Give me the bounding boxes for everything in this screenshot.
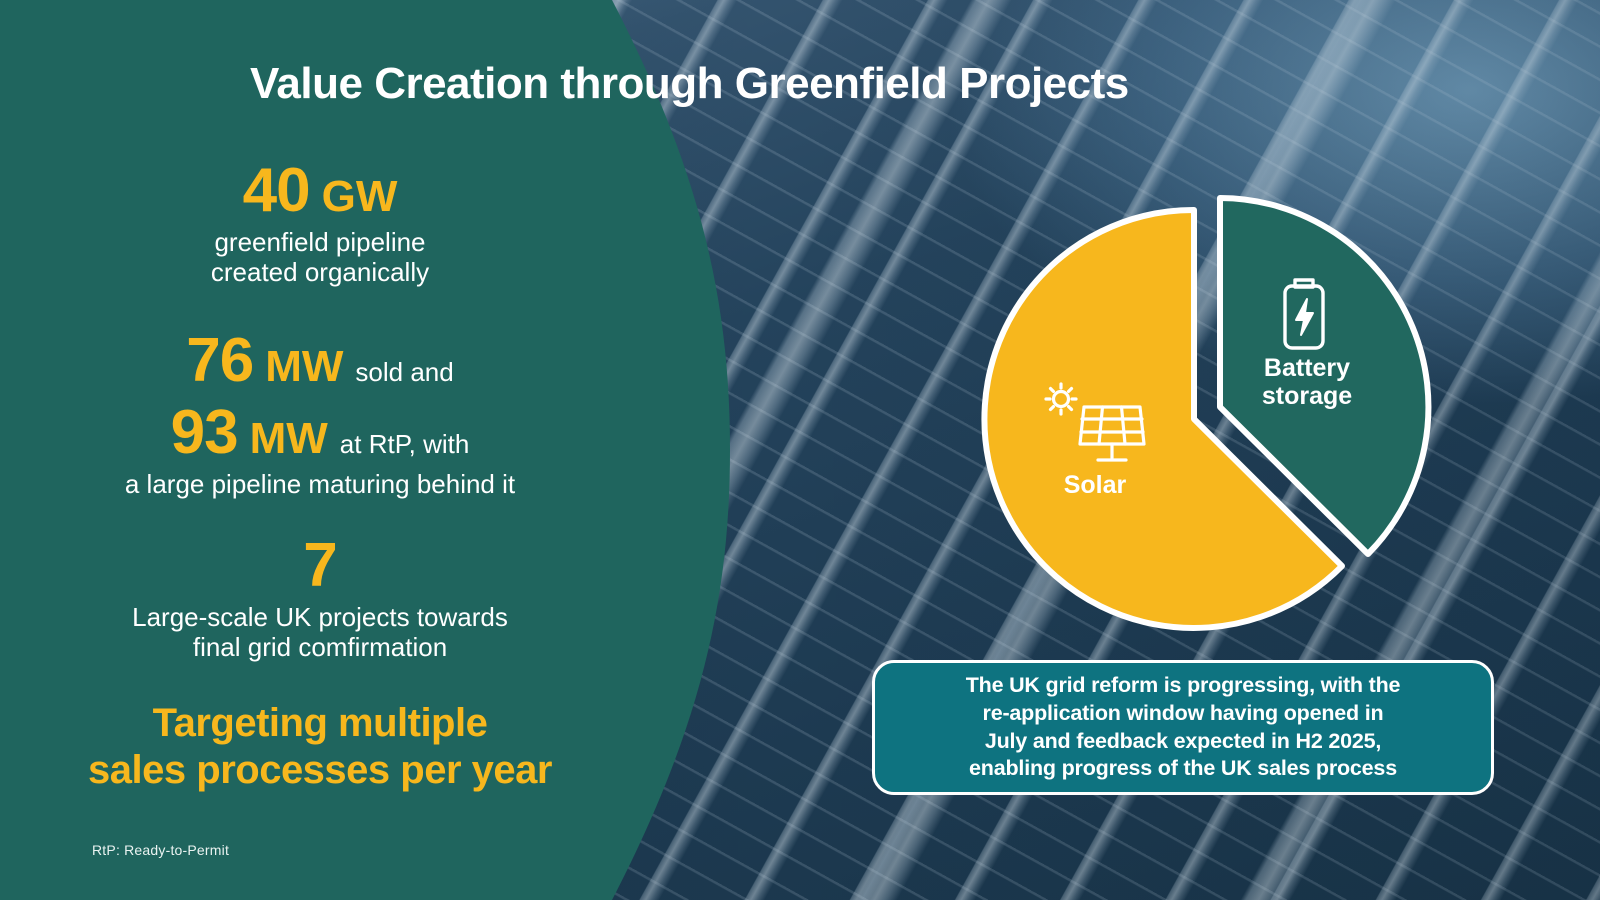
left-content: 40 GW greenfield pipeline created organi… bbox=[0, 0, 640, 900]
stat-unit-sold: MW bbox=[265, 345, 343, 389]
callout-box: The UK grid reform is progressing, with … bbox=[872, 660, 1494, 795]
stat-value-projects: 7 bbox=[303, 531, 336, 600]
headline-line1: Targeting multiple bbox=[0, 700, 640, 747]
stat-subtitle-line2: created organically bbox=[0, 258, 640, 288]
stat-inline-sold: sold and bbox=[355, 359, 453, 385]
stat-value-sold: 76 bbox=[186, 330, 253, 392]
stat-subtitle-projects-line1: Large-scale UK projects towards bbox=[0, 603, 640, 633]
stat-subtitle-projects-line2: final grid comfirmation bbox=[0, 633, 640, 663]
stat-value-row-projects: 7 bbox=[0, 535, 640, 597]
slide-root: Value Creation through Greenfield Projec… bbox=[0, 0, 1600, 900]
headline-block: Targeting multiple sales processes per y… bbox=[0, 700, 640, 794]
stat-inline-rtp: at RtP, with bbox=[340, 431, 470, 457]
callout-line2: re-application window having opened in bbox=[983, 701, 1384, 725]
headline-line2: sales processes per year bbox=[0, 747, 640, 794]
footnote: RtP: Ready-to-Permit bbox=[92, 842, 229, 858]
stat-value-row-rtp: 93 MW at RtP, with bbox=[0, 402, 640, 464]
stat-subtitle-line1: greenfield pipeline bbox=[0, 228, 640, 258]
stat-value-row: 40 GW bbox=[0, 160, 640, 222]
stat-value-row-sold: 76 MW sold and bbox=[0, 330, 640, 392]
stat-unit-rtp: MW bbox=[250, 417, 328, 461]
callout-line1: The UK grid reform is progressing, with … bbox=[966, 673, 1401, 697]
callout-line3: July and feedback expected in H2 2025, bbox=[985, 729, 1381, 753]
stat-block-pipeline: 40 GW greenfield pipeline created organi… bbox=[0, 160, 640, 288]
callout-text: The UK grid reform is progressing, with … bbox=[966, 672, 1401, 782]
callout-line4: enabling progress of the UK sales proces… bbox=[969, 756, 1397, 780]
stat-value-rtp: 93 bbox=[171, 402, 238, 464]
stat-block-uk-projects: 7 Large-scale UK projects towards final … bbox=[0, 535, 640, 663]
solar-panel-icon bbox=[1040, 382, 1146, 468]
stat-value: 40 bbox=[243, 160, 310, 222]
stat-block-sold-rtp: 76 MW sold and 93 MW at RtP, with a larg… bbox=[0, 330, 640, 500]
pie-chart bbox=[930, 160, 1470, 650]
pie-label-solar: Solar bbox=[1035, 472, 1155, 500]
pie-label-battery: Battery storage bbox=[1232, 355, 1382, 410]
stat-unit: GW bbox=[322, 175, 398, 219]
stat-subtitle-maturing: a large pipeline maturing behind it bbox=[0, 470, 640, 500]
battery-icon bbox=[1274, 277, 1334, 351]
